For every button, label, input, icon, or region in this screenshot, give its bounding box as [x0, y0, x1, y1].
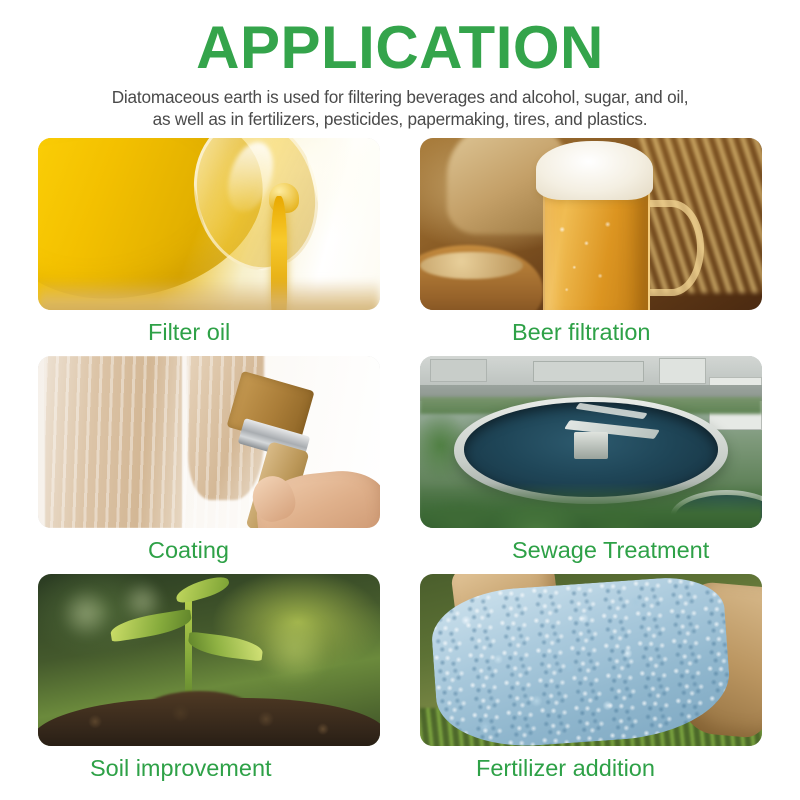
- card-caption: Fertilizer addition: [420, 746, 762, 782]
- brush-streaks: [45, 356, 257, 528]
- beer-foam-head: [536, 141, 652, 199]
- card-caption: Filter oil: [38, 310, 380, 346]
- grid-row: Soil improvement Fertilizer addition: [0, 574, 800, 792]
- fertilizer-granules-photo: [420, 574, 762, 746]
- application-card-coating[interactable]: Coating: [38, 356, 380, 564]
- grid-row: Coating: [0, 356, 800, 574]
- building: [659, 358, 705, 384]
- card-caption: Beer filtration: [420, 310, 762, 346]
- building: [430, 359, 487, 382]
- bokeh-light: [59, 588, 114, 640]
- beer-bubbles: [553, 214, 628, 300]
- fertilizer-granule-texture: [429, 574, 733, 746]
- card-caption: Soil improvement: [38, 746, 380, 782]
- bowl-grain: [420, 252, 523, 280]
- oil-surface-shadow: [38, 279, 380, 310]
- page-subtitle: Diatomaceous earth is used for filtering…: [0, 78, 800, 131]
- application-card-soil-improvement[interactable]: Soil improvement: [38, 574, 380, 782]
- beer-mug-photo: [420, 138, 762, 310]
- application-card-filter-oil[interactable]: Filter oil: [38, 138, 380, 346]
- bokeh-light: [264, 612, 326, 688]
- subtitle-line-1: Diatomaceous earth is used for filtering…: [0, 87, 800, 109]
- center-drive-hub: [574, 432, 608, 460]
- application-card-fertilizer-addition[interactable]: Fertilizer addition: [420, 574, 762, 782]
- foreground-vegetation: [420, 483, 762, 528]
- oil-pour-photo: [38, 138, 380, 310]
- seedling-photo: [38, 574, 380, 746]
- application-grid: Filter oil Beer filt: [0, 138, 800, 792]
- subtitle-line-2: as well as in fertilizers, pesticides, p…: [0, 109, 800, 131]
- card-caption: Coating: [38, 528, 380, 564]
- clarifier-tank-photo: [420, 356, 762, 528]
- page-title: APPLICATION: [0, 0, 800, 78]
- application-card-sewage-treatment[interactable]: Sewage Treatment: [420, 356, 762, 564]
- header: APPLICATION Diatomaceous earth is used f…: [0, 0, 800, 131]
- grid-row: Filter oil Beer filt: [0, 138, 800, 356]
- application-card-beer-filtration[interactable]: Beer filtration: [420, 138, 762, 346]
- card-caption: Sewage Treatment: [420, 528, 762, 564]
- paint-brush-photo: [38, 356, 380, 528]
- building: [533, 361, 644, 382]
- application-infographic: APPLICATION Diatomaceous earth is used f…: [0, 0, 800, 800]
